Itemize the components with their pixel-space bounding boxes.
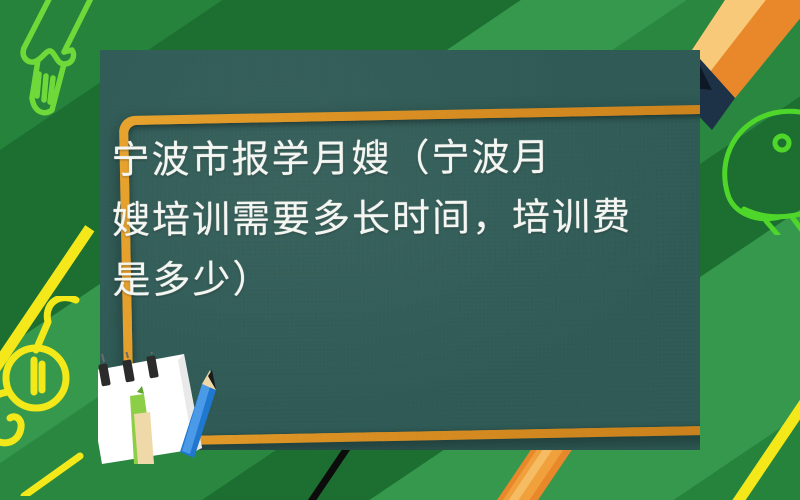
headline-line-2: 嫂培训需要多长时间，培训费	[112, 186, 700, 250]
headline-line-3: 是多少）	[112, 246, 700, 310]
headline-text: 宁波市报学月嫂（宁波月 嫂培训需要多长时间，培训费 是多少）	[111, 126, 700, 310]
yellow-stripe-left	[0, 225, 94, 500]
magnifier-doodle-icon	[0, 296, 114, 496]
yellow-stripe-right	[728, 158, 800, 500]
cover-canvas: 宁波市报学月嫂（宁波月 嫂培训需要多长时间，培训费 是多少）	[0, 0, 800, 500]
headline-line-1: 宁波市报学月嫂（宁波月	[111, 126, 700, 190]
leaf-doodle-icon	[720, 85, 800, 235]
notepad-with-pencils	[98, 352, 238, 464]
